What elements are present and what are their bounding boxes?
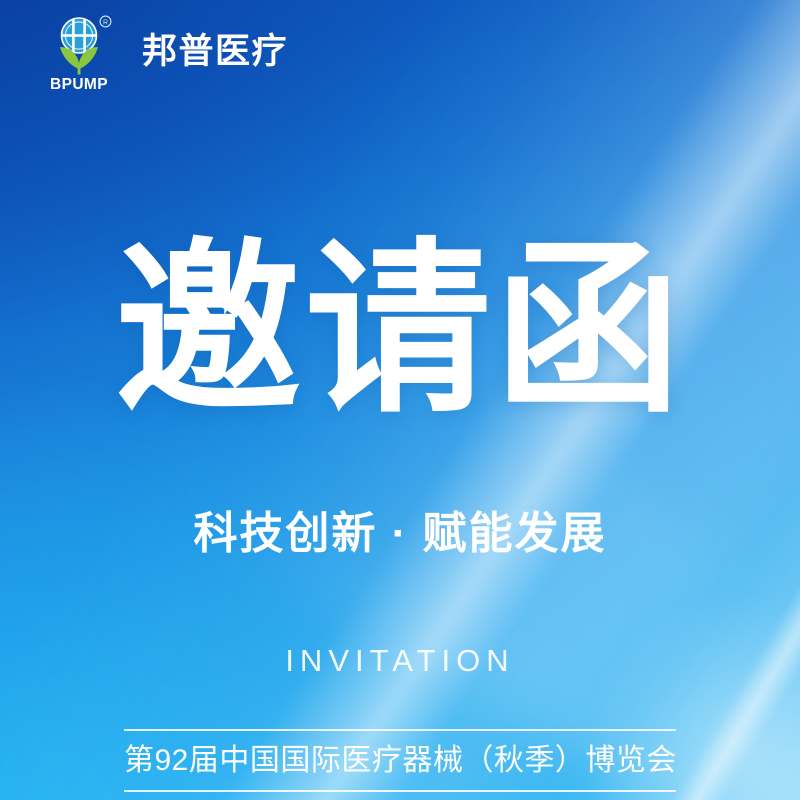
- invitation-label-en: INVITATION: [0, 645, 800, 676]
- registered-trademark-icon: R: [100, 16, 111, 27]
- subtitle-slogan: 科技创新 · 赋能发展: [0, 510, 800, 558]
- event-bar: 第92届中国国际医疗器械（秋季）博览会: [124, 729, 676, 792]
- divider-bottom: [124, 790, 676, 792]
- svg-text:R: R: [103, 19, 108, 26]
- invitation-poster: R BPUMP 邦普医疗 邀请函 科技创新 · 赋能发展 INVITATION …: [0, 0, 800, 800]
- event-name: 第92届中国国际医疗器械（秋季）博览会: [124, 731, 676, 790]
- page-title: 邀请函: [0, 238, 800, 424]
- company-name-cn: 邦普医疗: [142, 34, 288, 73]
- bpump-text: BPUMP: [50, 76, 108, 92]
- bpump-circle-leaf-logo: R BPUMP: [46, 14, 124, 92]
- brand-header: R BPUMP 邦普医疗: [46, 14, 288, 92]
- emblem-circle: [62, 18, 97, 53]
